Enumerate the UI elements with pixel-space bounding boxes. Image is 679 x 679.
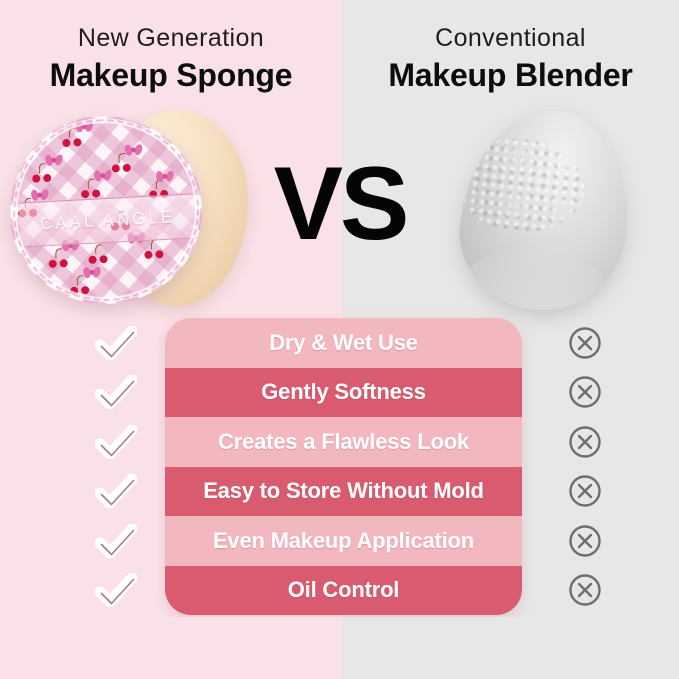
feature-label: Dry & Wet Use bbox=[269, 330, 418, 356]
cross-mark-column bbox=[551, 318, 619, 615]
feature-label: Creates a Flawless Look bbox=[218, 429, 469, 455]
cross-icon-cell bbox=[551, 318, 619, 368]
feature-row: Dry & Wet Use bbox=[165, 318, 522, 368]
feature-row: Creates a Flawless Look bbox=[165, 417, 522, 467]
check-icon-cell bbox=[82, 368, 150, 418]
left-panel-kicker: New Generation bbox=[4, 26, 338, 51]
feature-label: Easy to Store Without Mold bbox=[203, 478, 484, 504]
circle-x-icon bbox=[568, 474, 602, 508]
check-mark-column bbox=[82, 318, 150, 615]
versus-label: VS bbox=[262, 150, 418, 258]
check-icon bbox=[95, 425, 137, 459]
feature-row: Oil Control bbox=[165, 566, 522, 616]
cross-icon-cell bbox=[551, 417, 619, 467]
bottom-strip-left bbox=[0, 617, 342, 679]
right-panel-title: Makeup Blender bbox=[344, 59, 677, 91]
feature-row: Gently Softness bbox=[165, 368, 522, 418]
feature-row: Even Makeup Application bbox=[165, 516, 522, 566]
bottom-strip-right bbox=[342, 617, 679, 679]
cross-icon-cell bbox=[551, 467, 619, 517]
cross-icon-cell bbox=[551, 368, 619, 418]
check-icon-cell bbox=[82, 566, 150, 616]
left-panel-heading: New Generation Makeup Sponge bbox=[4, 26, 338, 91]
cross-icon-cell bbox=[551, 566, 619, 616]
feature-label: Even Makeup Application bbox=[213, 528, 474, 554]
check-icon bbox=[95, 375, 137, 409]
check-icon bbox=[95, 474, 137, 508]
feature-row: Easy to Store Without Mold bbox=[165, 467, 522, 517]
check-icon-cell bbox=[82, 417, 150, 467]
check-icon bbox=[95, 573, 137, 607]
feature-label: Gently Softness bbox=[261, 379, 425, 405]
feature-label: Oil Control bbox=[288, 577, 399, 603]
circle-x-icon bbox=[568, 425, 602, 459]
puff-printed-face: CAAL ANGLE bbox=[5, 111, 207, 309]
circle-x-icon bbox=[568, 326, 602, 360]
comparison-infographic: New Generation Makeup Sponge Conventiona… bbox=[0, 0, 679, 679]
right-panel-kicker: Conventional bbox=[344, 26, 677, 51]
circle-x-icon bbox=[568, 524, 602, 558]
left-panel-title: Makeup Sponge bbox=[4, 59, 338, 91]
check-icon-cell bbox=[82, 516, 150, 566]
check-icon bbox=[95, 326, 137, 360]
cross-icon-cell bbox=[551, 516, 619, 566]
right-panel-heading: Conventional Makeup Blender bbox=[344, 26, 677, 91]
powder-puff-product-image: CAAL ANGLE bbox=[2, 104, 252, 316]
check-icon bbox=[95, 524, 137, 558]
check-icon-cell bbox=[82, 318, 150, 368]
circle-x-icon bbox=[568, 375, 602, 409]
circle-x-icon bbox=[568, 573, 602, 607]
feature-comparison-card: Dry & Wet Use Gently Softness Creates a … bbox=[165, 318, 522, 615]
bottom-background-strip bbox=[0, 617, 679, 679]
check-icon-cell bbox=[82, 467, 150, 517]
